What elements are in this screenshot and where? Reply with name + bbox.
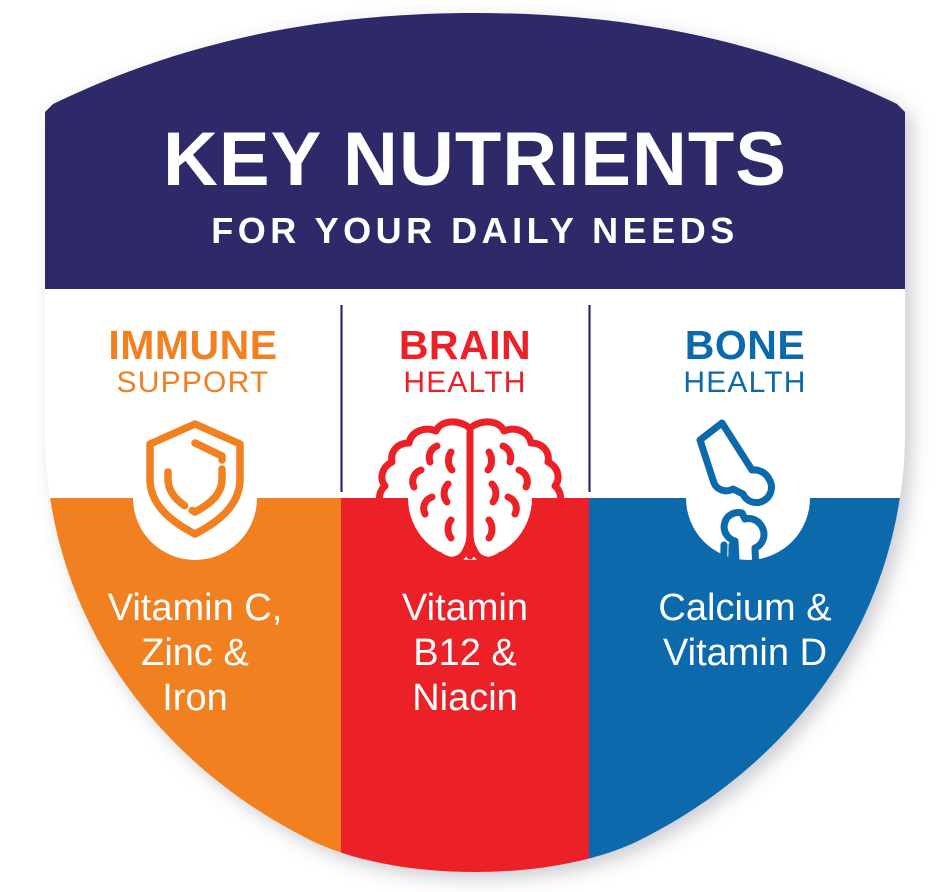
column-brain-nutrient-line-3: Niacin	[412, 677, 518, 719]
column-brain-nutrient-line-2: B12 &	[413, 632, 517, 674]
column-immune-subtitle: SUPPORT	[117, 366, 270, 399]
column-immune-title: IMMUNE	[108, 322, 277, 368]
column-brain-subtitle: HEALTH	[403, 366, 526, 399]
column-brain-nutrient-line-1: Vitamin	[402, 587, 528, 629]
column-immune-nutrient-line-1: Vitamin C,	[108, 587, 283, 629]
infographic-canvas: KEY NUTRIENTS FOR YOUR DAILY NEEDS IMMUN…	[0, 0, 950, 892]
column-immune-nutrient-line-2: Zinc &	[141, 632, 249, 674]
column-bone-subtitle: HEALTH	[683, 366, 806, 399]
column-bone-nutrient-line-2: Vitamin D	[663, 632, 827, 674]
page-subtitle: FOR YOUR DAILY NEEDS	[211, 210, 738, 251]
column-immune-nutrient-line-3: Iron	[162, 677, 227, 719]
page-title: KEY NUTRIENTS	[163, 117, 787, 202]
column-brain-title: BRAIN	[399, 322, 531, 368]
column-bone-nutrient-line-1: Calcium &	[658, 587, 831, 629]
column-bone-title: BONE	[685, 322, 805, 368]
key-nutrients-shield-badge: KEY NUTRIENTS FOR YOUR DAILY NEEDS IMMUN…	[0, 0, 950, 892]
band-bone	[589, 498, 950, 892]
